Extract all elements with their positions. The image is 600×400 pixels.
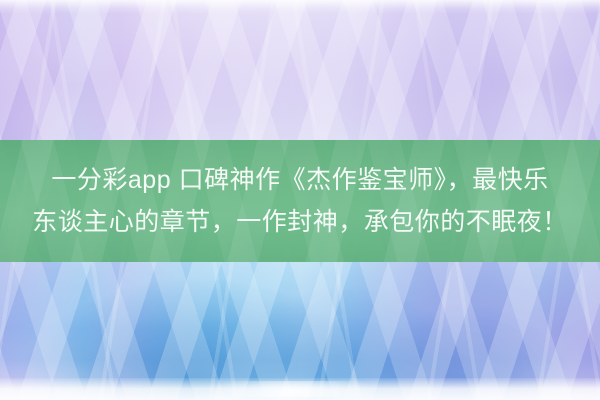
background-bottom-glow	[0, 381, 600, 397]
background-lavender-right	[0, 250, 600, 400]
caption-line-2: 东谈主心的章节，一作封神，承包你的不眠夜！	[32, 201, 568, 243]
promo-banner: 一分彩app 口碑神作《杰作鉴宝师》，最快乐 东谈主心的章节，一作封神，承包你的…	[0, 0, 600, 400]
background-blue-core	[0, 255, 600, 400]
background-top-edge-highlight	[0, 0, 600, 14]
caption-band: 一分彩app 口碑神作《杰作鉴宝师》，最快乐 东谈主心的章节，一作封神，承包你的…	[0, 140, 600, 262]
caption-line-1: 一分彩app 口碑神作《杰作鉴宝师》，最快乐	[51, 159, 548, 201]
background-bottom-edge-highlight	[0, 378, 600, 400]
